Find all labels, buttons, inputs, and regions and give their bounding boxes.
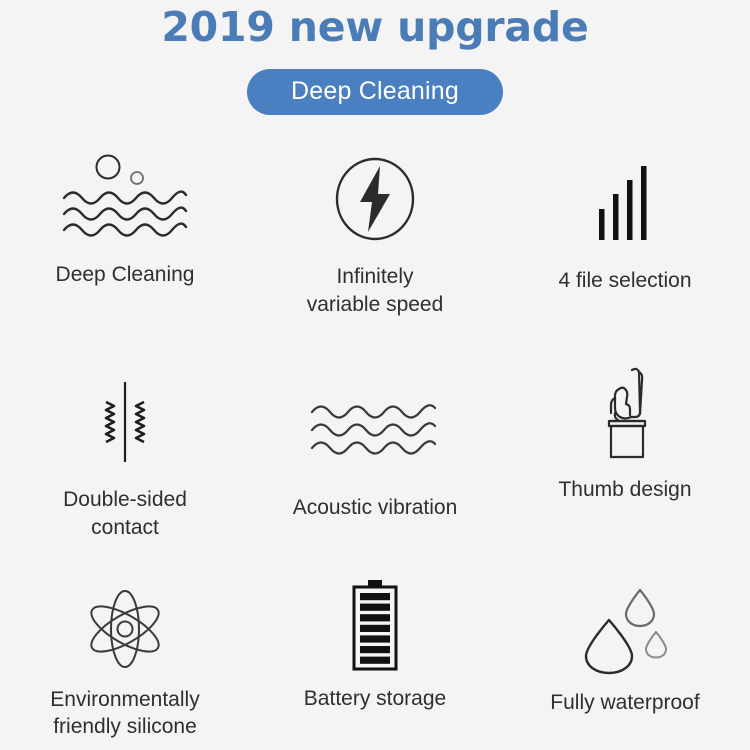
feature-label: Thumb design	[558, 476, 691, 504]
feature-grid: Deep Cleaning Infinitely variable speed	[0, 149, 750, 741]
header: 2019 new upgrade Deep Cleaning	[0, 0, 750, 115]
feature-label: Infinitely variable speed	[307, 263, 444, 318]
feature-label: Double-sided contact	[63, 486, 187, 541]
thumb-up-device-icon	[592, 364, 658, 460]
feature-item-thumb-design: Thumb design	[500, 360, 750, 571]
feature-item-infinitely-variable-speed: Infinitely variable speed	[250, 149, 500, 360]
feature-item-battery-storage: Battery storage	[250, 571, 500, 741]
feature-label: Environmentally friendly silicone	[50, 686, 199, 741]
feature-label: 4 file selection	[558, 267, 691, 295]
feature-item-environmentally-friendly-silicone: Environmentally friendly silicone	[0, 571, 250, 741]
feature-label-line2: friendly silicone	[50, 713, 199, 741]
waves-with-bubbles-icon	[60, 149, 190, 245]
feature-label: Fully waterproof	[550, 689, 699, 717]
feature-item-4-file-selection: 4 file selection	[500, 149, 750, 360]
feature-label-line1: Double-sided	[63, 486, 187, 514]
feature-item-deep-cleaning: Deep Cleaning	[0, 149, 250, 360]
infographic-page: 2019 new upgrade Deep Cleaning Deep Clea…	[0, 0, 750, 750]
feature-label: Deep Cleaning	[56, 261, 195, 289]
battery-full-icon	[347, 577, 403, 673]
feature-label: Acoustic vibration	[293, 494, 458, 522]
lightning-bolt-in-circle-icon	[334, 151, 416, 247]
feature-label-line1: Environmentally	[50, 686, 199, 714]
signal-bars-icon	[597, 155, 653, 251]
feature-label-line1: Infinitely	[307, 263, 444, 291]
status-badge: Deep Cleaning	[247, 69, 503, 115]
sound-waves-icon	[309, 382, 441, 478]
water-droplets-icon	[579, 581, 671, 677]
page-title: 2019 new upgrade	[161, 2, 588, 49]
feature-item-double-sided-contact: Double-sided contact	[0, 360, 250, 571]
feature-item-fully-waterproof: Fully waterproof	[500, 571, 750, 741]
feature-label: Battery storage	[304, 685, 446, 713]
feature-label-line2: variable speed	[307, 291, 444, 319]
feature-item-acoustic-vibration: Acoustic vibration	[250, 360, 500, 571]
atom-icon	[82, 585, 168, 674]
double-sided-contact-icon	[90, 374, 160, 470]
feature-label-line2: contact	[63, 514, 187, 542]
